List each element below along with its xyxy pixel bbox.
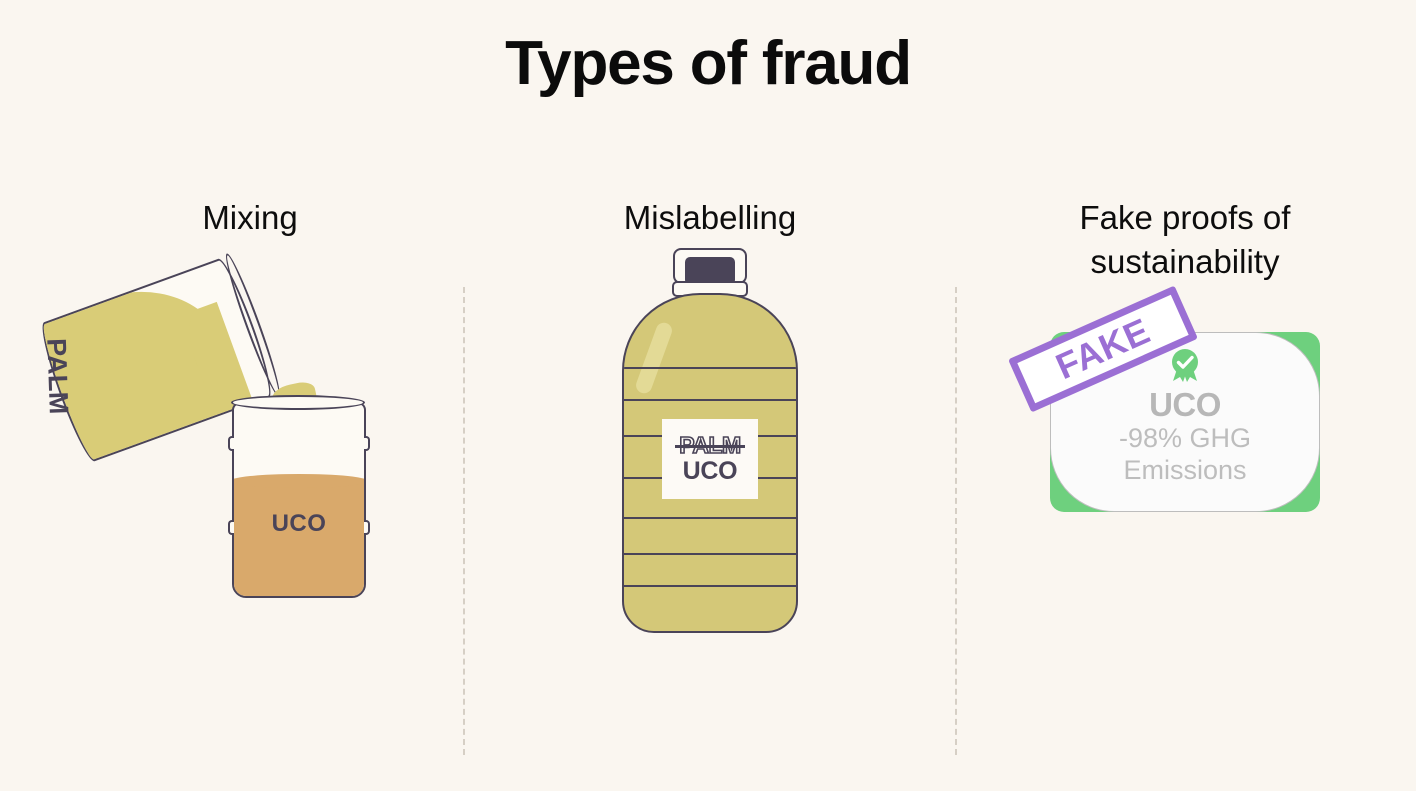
- slide-root: Types of fraud Mixing PALM: [0, 0, 1416, 791]
- illustration-fake-proofs: UCO -98% GHG Emissions FAKE: [965, 284, 1405, 704]
- column-divider-1: [463, 287, 465, 755]
- bottle-cap-handle: [673, 248, 747, 284]
- column-heading-line-2: sustainability: [965, 240, 1405, 284]
- certificate-line-1: -98% GHG: [1119, 423, 1251, 455]
- column-divider-2: [955, 287, 957, 755]
- column-fake-proofs: Fake proofs of sustainability UCO: [965, 196, 1405, 704]
- drum-notch: [364, 436, 370, 451]
- column-heading-mixing: Mixing: [40, 196, 460, 240]
- uco-oil-fill: [234, 481, 364, 596]
- certificate-line-2: Emissions: [1123, 455, 1246, 487]
- page-title: Types of fraud: [0, 28, 1416, 99]
- verified-seal-icon: [1165, 345, 1205, 385]
- bottle-body: PALM UCO: [622, 293, 798, 633]
- column-heading-mislabelling: Mislabelling: [470, 196, 950, 240]
- bottle-rib: [622, 585, 798, 587]
- uco-drum-body: [232, 402, 366, 598]
- label-relabelled-uco: UCO: [683, 459, 738, 484]
- palm-drum-label: PALM: [40, 338, 74, 416]
- uco-drum-receiving: UCO: [232, 402, 366, 598]
- column-heading-line-1: Fake proofs of: [965, 196, 1405, 240]
- certificate: UCO -98% GHG Emissions FAKE: [1050, 332, 1320, 512]
- bottle-rib: [622, 367, 798, 369]
- bottle-rib: [622, 517, 798, 519]
- column-mixing: Mixing PALM UCO: [40, 196, 460, 660]
- oil-bottle: PALM UCO: [622, 248, 798, 638]
- uco-drum-rim: [231, 395, 365, 410]
- drum-notch: [228, 436, 234, 451]
- bottle-highlight: [634, 320, 674, 395]
- bottle-rib: [622, 553, 798, 555]
- label-struck-palm: PALM: [679, 434, 740, 457]
- certificate-title: UCO: [1149, 387, 1221, 423]
- bottle-label: PALM UCO: [662, 419, 758, 499]
- illustration-mixing: PALM UCO: [40, 240, 460, 660]
- bottle-rib: [622, 399, 798, 401]
- column-mislabelling: Mislabelling PALM: [470, 196, 950, 660]
- column-heading-fake-proofs: Fake proofs of sustainability: [965, 196, 1405, 284]
- uco-drum-label: UCO: [232, 510, 366, 538]
- bottle-cap: [685, 257, 735, 283]
- illustration-mislabelling: PALM UCO: [470, 240, 950, 660]
